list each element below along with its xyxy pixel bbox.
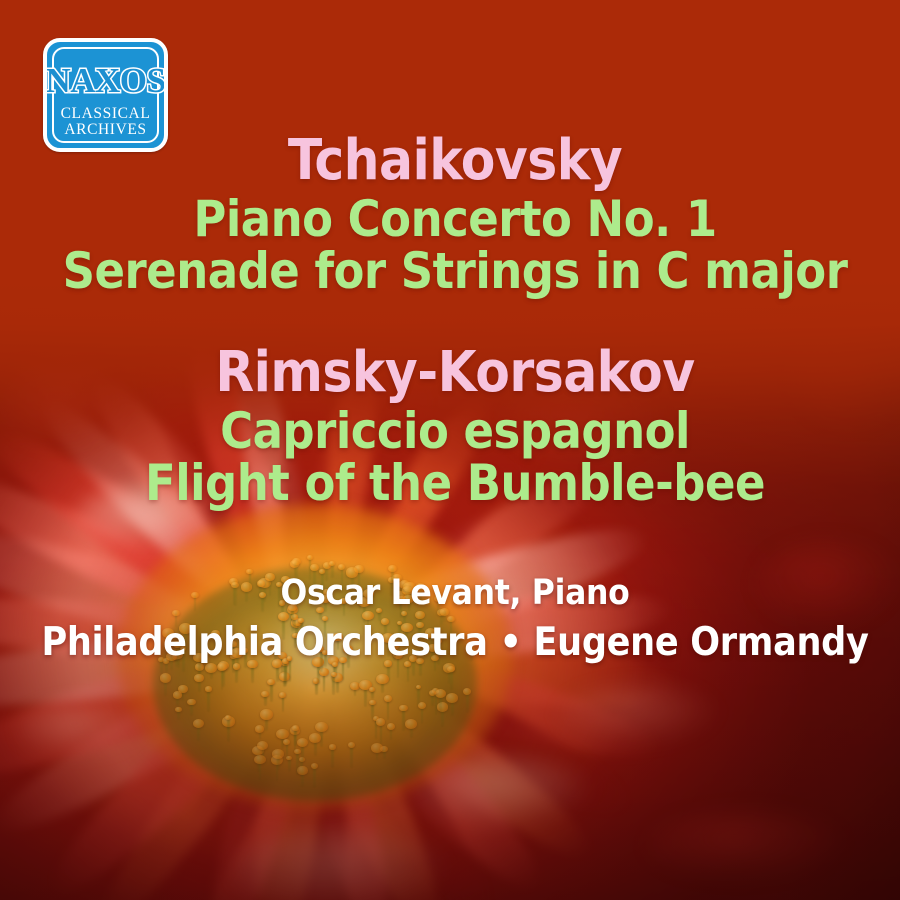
naxos-logo[interactable]: NAXOS CLASSICAL ARCHIVES <box>43 38 168 152</box>
performer-soloist: Oscar Levant, Piano <box>35 575 875 612</box>
composer-name-rimsky-korsakov: Rimsky-Korsakov <box>55 345 855 401</box>
composer-block-tchaikovsky: Tchaikovsky Piano Concerto No. 1 Serenad… <box>55 133 855 297</box>
logo-wordmark: NAXOS <box>45 63 165 98</box>
composer-name-tchaikovsky: Tchaikovsky <box>55 133 855 189</box>
performer-credits: Oscar Levant, Piano Philadelphia Orchest… <box>35 575 875 663</box>
work-title-capriccio-espagnol: Capriccio espagnol <box>55 405 855 457</box>
composer-block-rimsky-korsakov: Rimsky-Korsakov Capriccio espagnol Fligh… <box>55 345 855 509</box>
logo-subtitle: CLASSICAL ARCHIVES <box>61 106 151 139</box>
logo-subtitle-line-1: CLASSICAL <box>61 106 151 122</box>
performer-ensemble-and-conductor: Philadelphia Orchestra • Eugene Ormandy <box>35 622 875 663</box>
work-title-piano-concerto: Piano Concerto No. 1 <box>55 193 855 245</box>
logo-subtitle-line-2: ARCHIVES <box>61 122 151 138</box>
work-title-serenade-for-strings: Serenade for Strings in C major <box>55 245 855 297</box>
work-title-flight-of-the-bumble-bee: Flight of the Bumble-bee <box>55 457 855 509</box>
album-cover: NAXOS CLASSICAL ARCHIVES Tchaikovsky Pia… <box>0 0 900 900</box>
logo-name-band: NAXOS <box>54 57 157 103</box>
